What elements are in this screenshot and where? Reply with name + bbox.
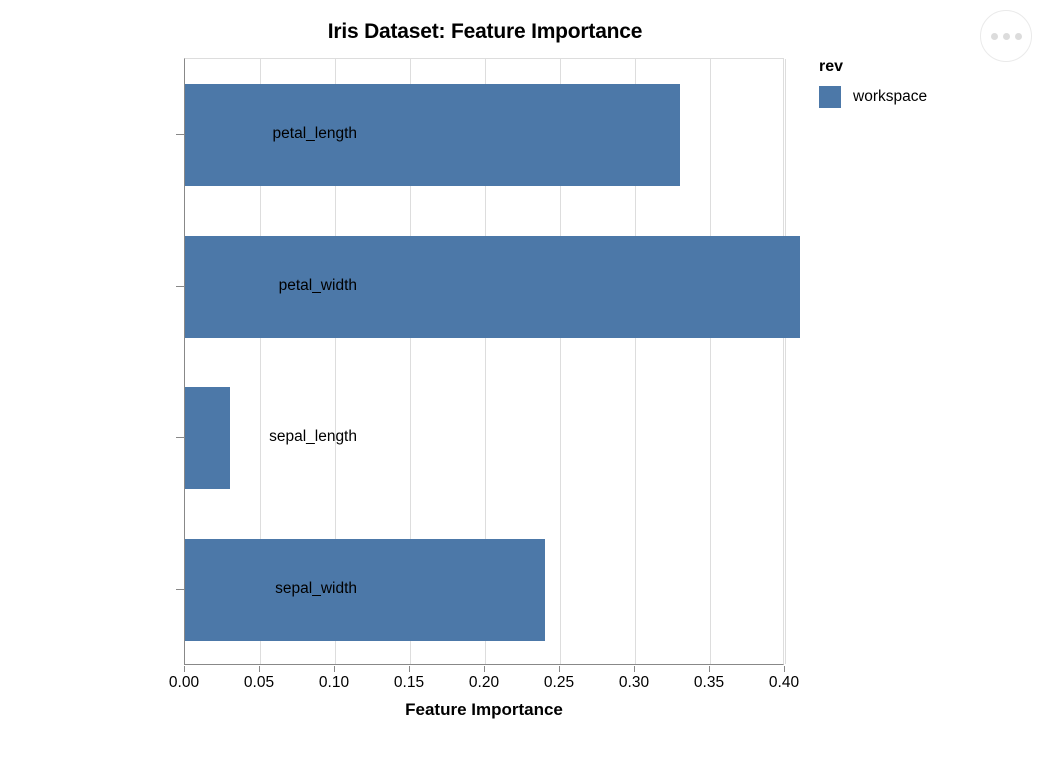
x-axis-tick-label: 0.00 xyxy=(149,674,219,692)
more-dot xyxy=(1015,33,1022,40)
x-axis-tick xyxy=(784,666,785,672)
x-axis-tick-label: 0.05 xyxy=(224,674,294,692)
x-axis-tick-label: 0.15 xyxy=(374,674,444,692)
gridline xyxy=(710,59,711,664)
x-axis-tick-label: 0.30 xyxy=(599,674,669,692)
y-axis-tick xyxy=(176,134,184,135)
y-axis-tick-labels: petal_lengthpetal_widthsepal_lengthsepal… xyxy=(107,59,357,666)
x-axis-tick xyxy=(484,666,485,672)
more-dot xyxy=(991,33,998,40)
y-axis-tick xyxy=(176,286,184,287)
x-axis-tick-label: 0.10 xyxy=(299,674,369,692)
legend-title: rev xyxy=(819,58,999,76)
y-axis-tick xyxy=(176,437,184,438)
x-axis-tick-label: 0.40 xyxy=(749,674,819,692)
x-axis-tick xyxy=(334,666,335,672)
x-axis-tick-label: 0.20 xyxy=(449,674,519,692)
x-axis-tick xyxy=(709,666,710,672)
x-axis-tick xyxy=(184,666,185,672)
plot-area: petal_lengthpetal_widthsepal_lengthsepal… xyxy=(184,58,784,665)
chart-title: Iris Dataset: Feature Importance xyxy=(0,20,970,44)
x-axis-tick xyxy=(559,666,560,672)
y-axis-tick-label: sepal_width xyxy=(107,580,357,598)
legend-label: workspace xyxy=(853,88,927,106)
x-axis-tick-label: 0.35 xyxy=(674,674,744,692)
legend-items: workspace xyxy=(819,86,999,108)
more-options-icon[interactable] xyxy=(980,10,1032,62)
x-axis-tick xyxy=(634,666,635,672)
more-dot xyxy=(1003,33,1010,40)
legend-swatch xyxy=(819,86,841,108)
legend: rev workspace xyxy=(819,58,999,108)
y-axis-tick xyxy=(176,589,184,590)
legend-item[interactable]: workspace xyxy=(819,86,999,108)
y-axis-tick-label: petal_length xyxy=(107,125,357,143)
x-axis-title: Feature Importance xyxy=(184,700,784,720)
chart-page: Iris Dataset: Feature Importance petal_l… xyxy=(0,0,1040,762)
y-axis-tick-label: petal_width xyxy=(107,277,357,295)
y-axis-tick-label: sepal_length xyxy=(107,428,357,446)
x-axis-tick xyxy=(409,666,410,672)
x-axis-tick xyxy=(259,666,260,672)
x-axis-tick-label: 0.25 xyxy=(524,674,594,692)
gridline xyxy=(785,59,786,664)
